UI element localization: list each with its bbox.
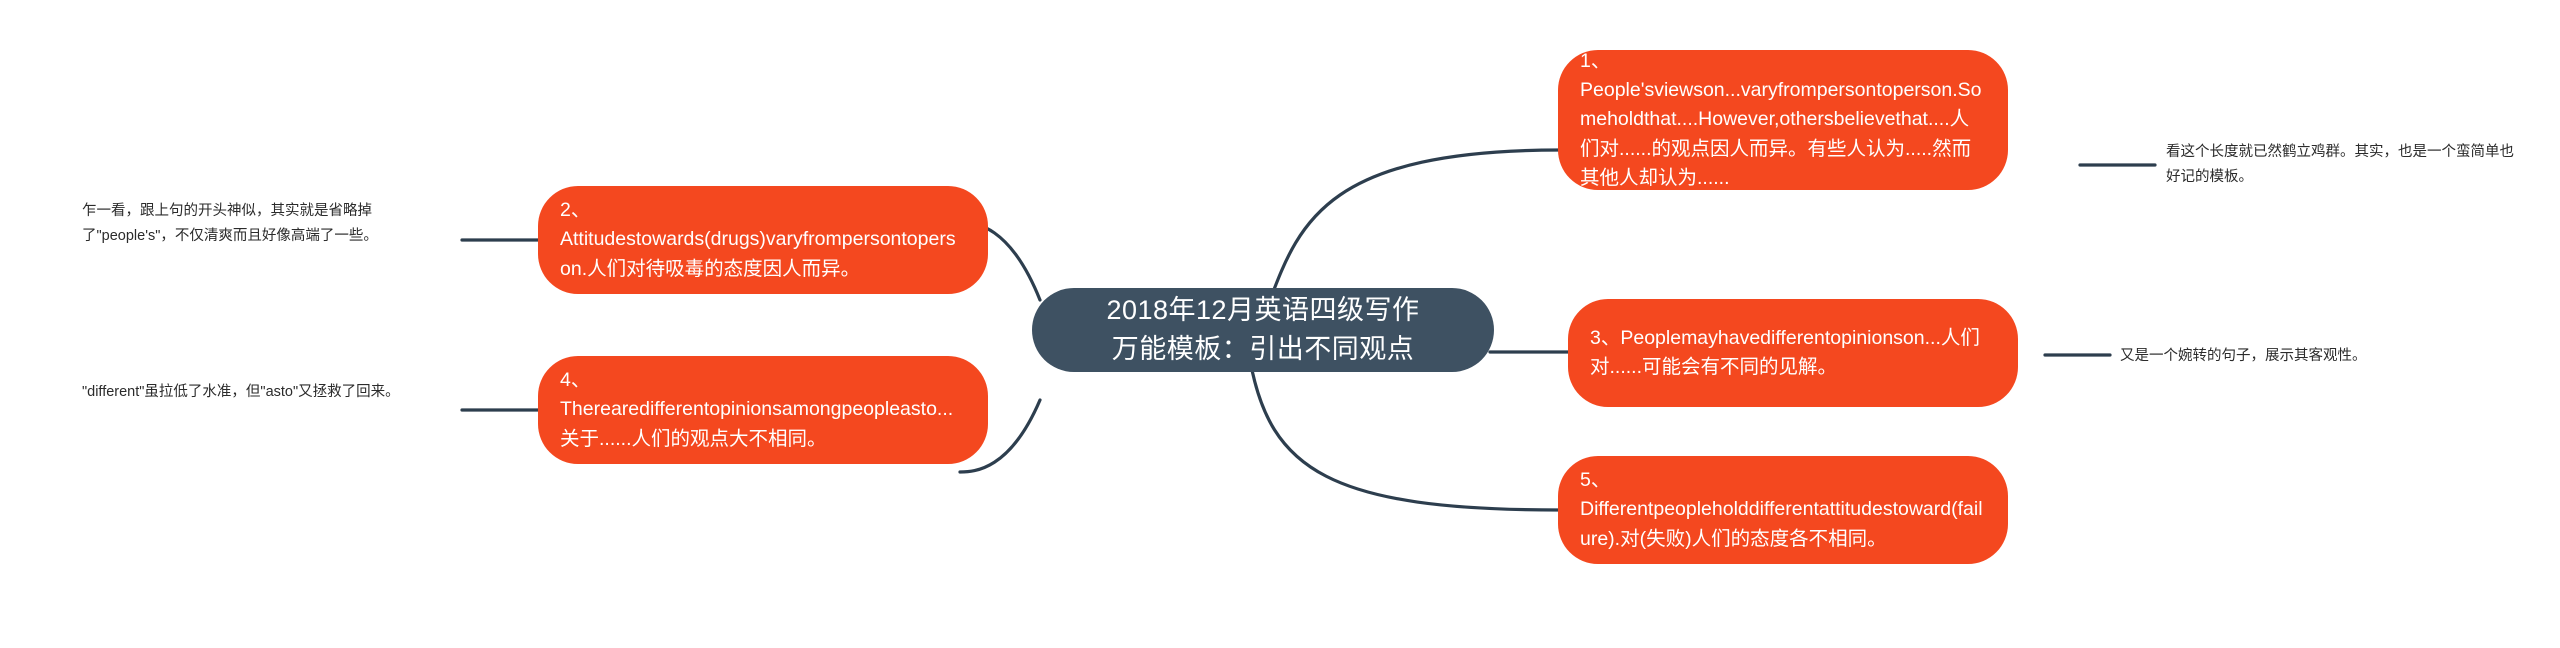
branch-node-3-text: 3、Peoplemayhavedifferentopinionson...人们对… [1590, 324, 1996, 383]
annotation-left-bottom: "different"虽拉低了水准，但"asto"又拯救了回来。 [82, 380, 454, 405]
central-node[interactable]: 2018年12月英语四级写作 万能模板：引出不同观点 [1032, 288, 1494, 372]
connector-center-to-node-5 [1250, 360, 1560, 510]
branch-node-1-text: 1、People'sviewson...varyfrompersontopers… [1580, 47, 1986, 193]
mindmap-canvas: 2018年12月英语四级写作 万能模板：引出不同观点 1、People'svie… [0, 0, 2560, 648]
branch-node-5-text: 5、Differentpeopleholddifferentattitudest… [1580, 466, 1986, 554]
branch-node-4-text: 4、Therearedifferentopinionsamongpeopleas… [560, 366, 966, 454]
annotation-left-top: 乍一看，跟上句的开头神似，其实就是省略掉了"people's"，不仅清爽而且好像… [82, 199, 454, 250]
central-node-line-1: 2018年12月英语四级写作 [1106, 291, 1419, 330]
branch-node-5[interactable]: 5、Differentpeopleholddifferentattitudest… [1558, 456, 2008, 564]
central-node-line-2: 万能模板：引出不同观点 [1106, 330, 1419, 369]
annotation-right-middle: 又是一个婉转的句子，展示其客观性。 [2120, 344, 2468, 369]
connector-center-to-node-1 [1270, 150, 1560, 300]
branch-node-1[interactable]: 1、People'sviewson...varyfrompersontopers… [1558, 50, 2008, 190]
branch-node-2[interactable]: 2、Attitudestowards(drugs)varyfrompersont… [538, 186, 988, 294]
branch-node-2-text: 2、Attitudestowards(drugs)varyfrompersont… [560, 196, 966, 284]
branch-node-4[interactable]: 4、Therearedifferentopinionsamongpeopleas… [538, 356, 988, 464]
annotation-right-top: 看这个长度就已然鹤立鸡群。其实，也是一个蛮简单也好记的模板。 [2166, 140, 2514, 191]
branch-node-3[interactable]: 3、Peoplemayhavedifferentopinionson...人们对… [1568, 299, 2018, 407]
